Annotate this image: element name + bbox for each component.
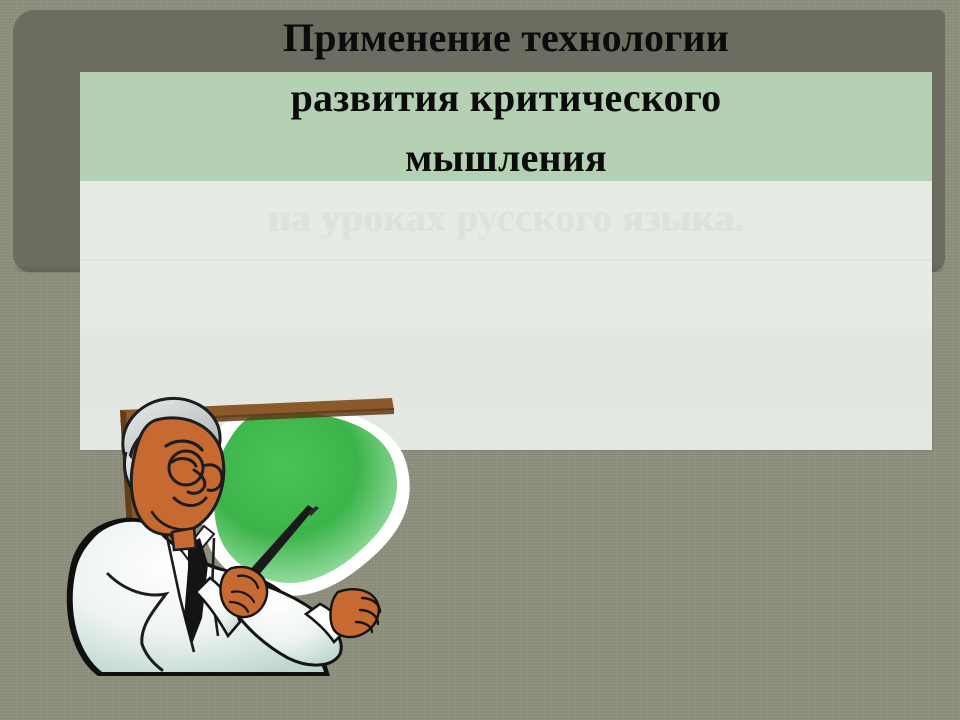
slide-title: Применение технологии развития критическ…: [80, 8, 932, 248]
neck: [172, 528, 196, 550]
slide-canvas: Применение технологии развития критическ…: [0, 0, 960, 720]
title-line-4: на уроках русского языка.: [80, 188, 932, 248]
title-line-2: развития критического: [80, 68, 932, 128]
teacher-illustration: [62, 392, 434, 676]
title-line-3: мышления: [80, 128, 932, 188]
title-line-1: Применение технологии: [80, 8, 932, 68]
